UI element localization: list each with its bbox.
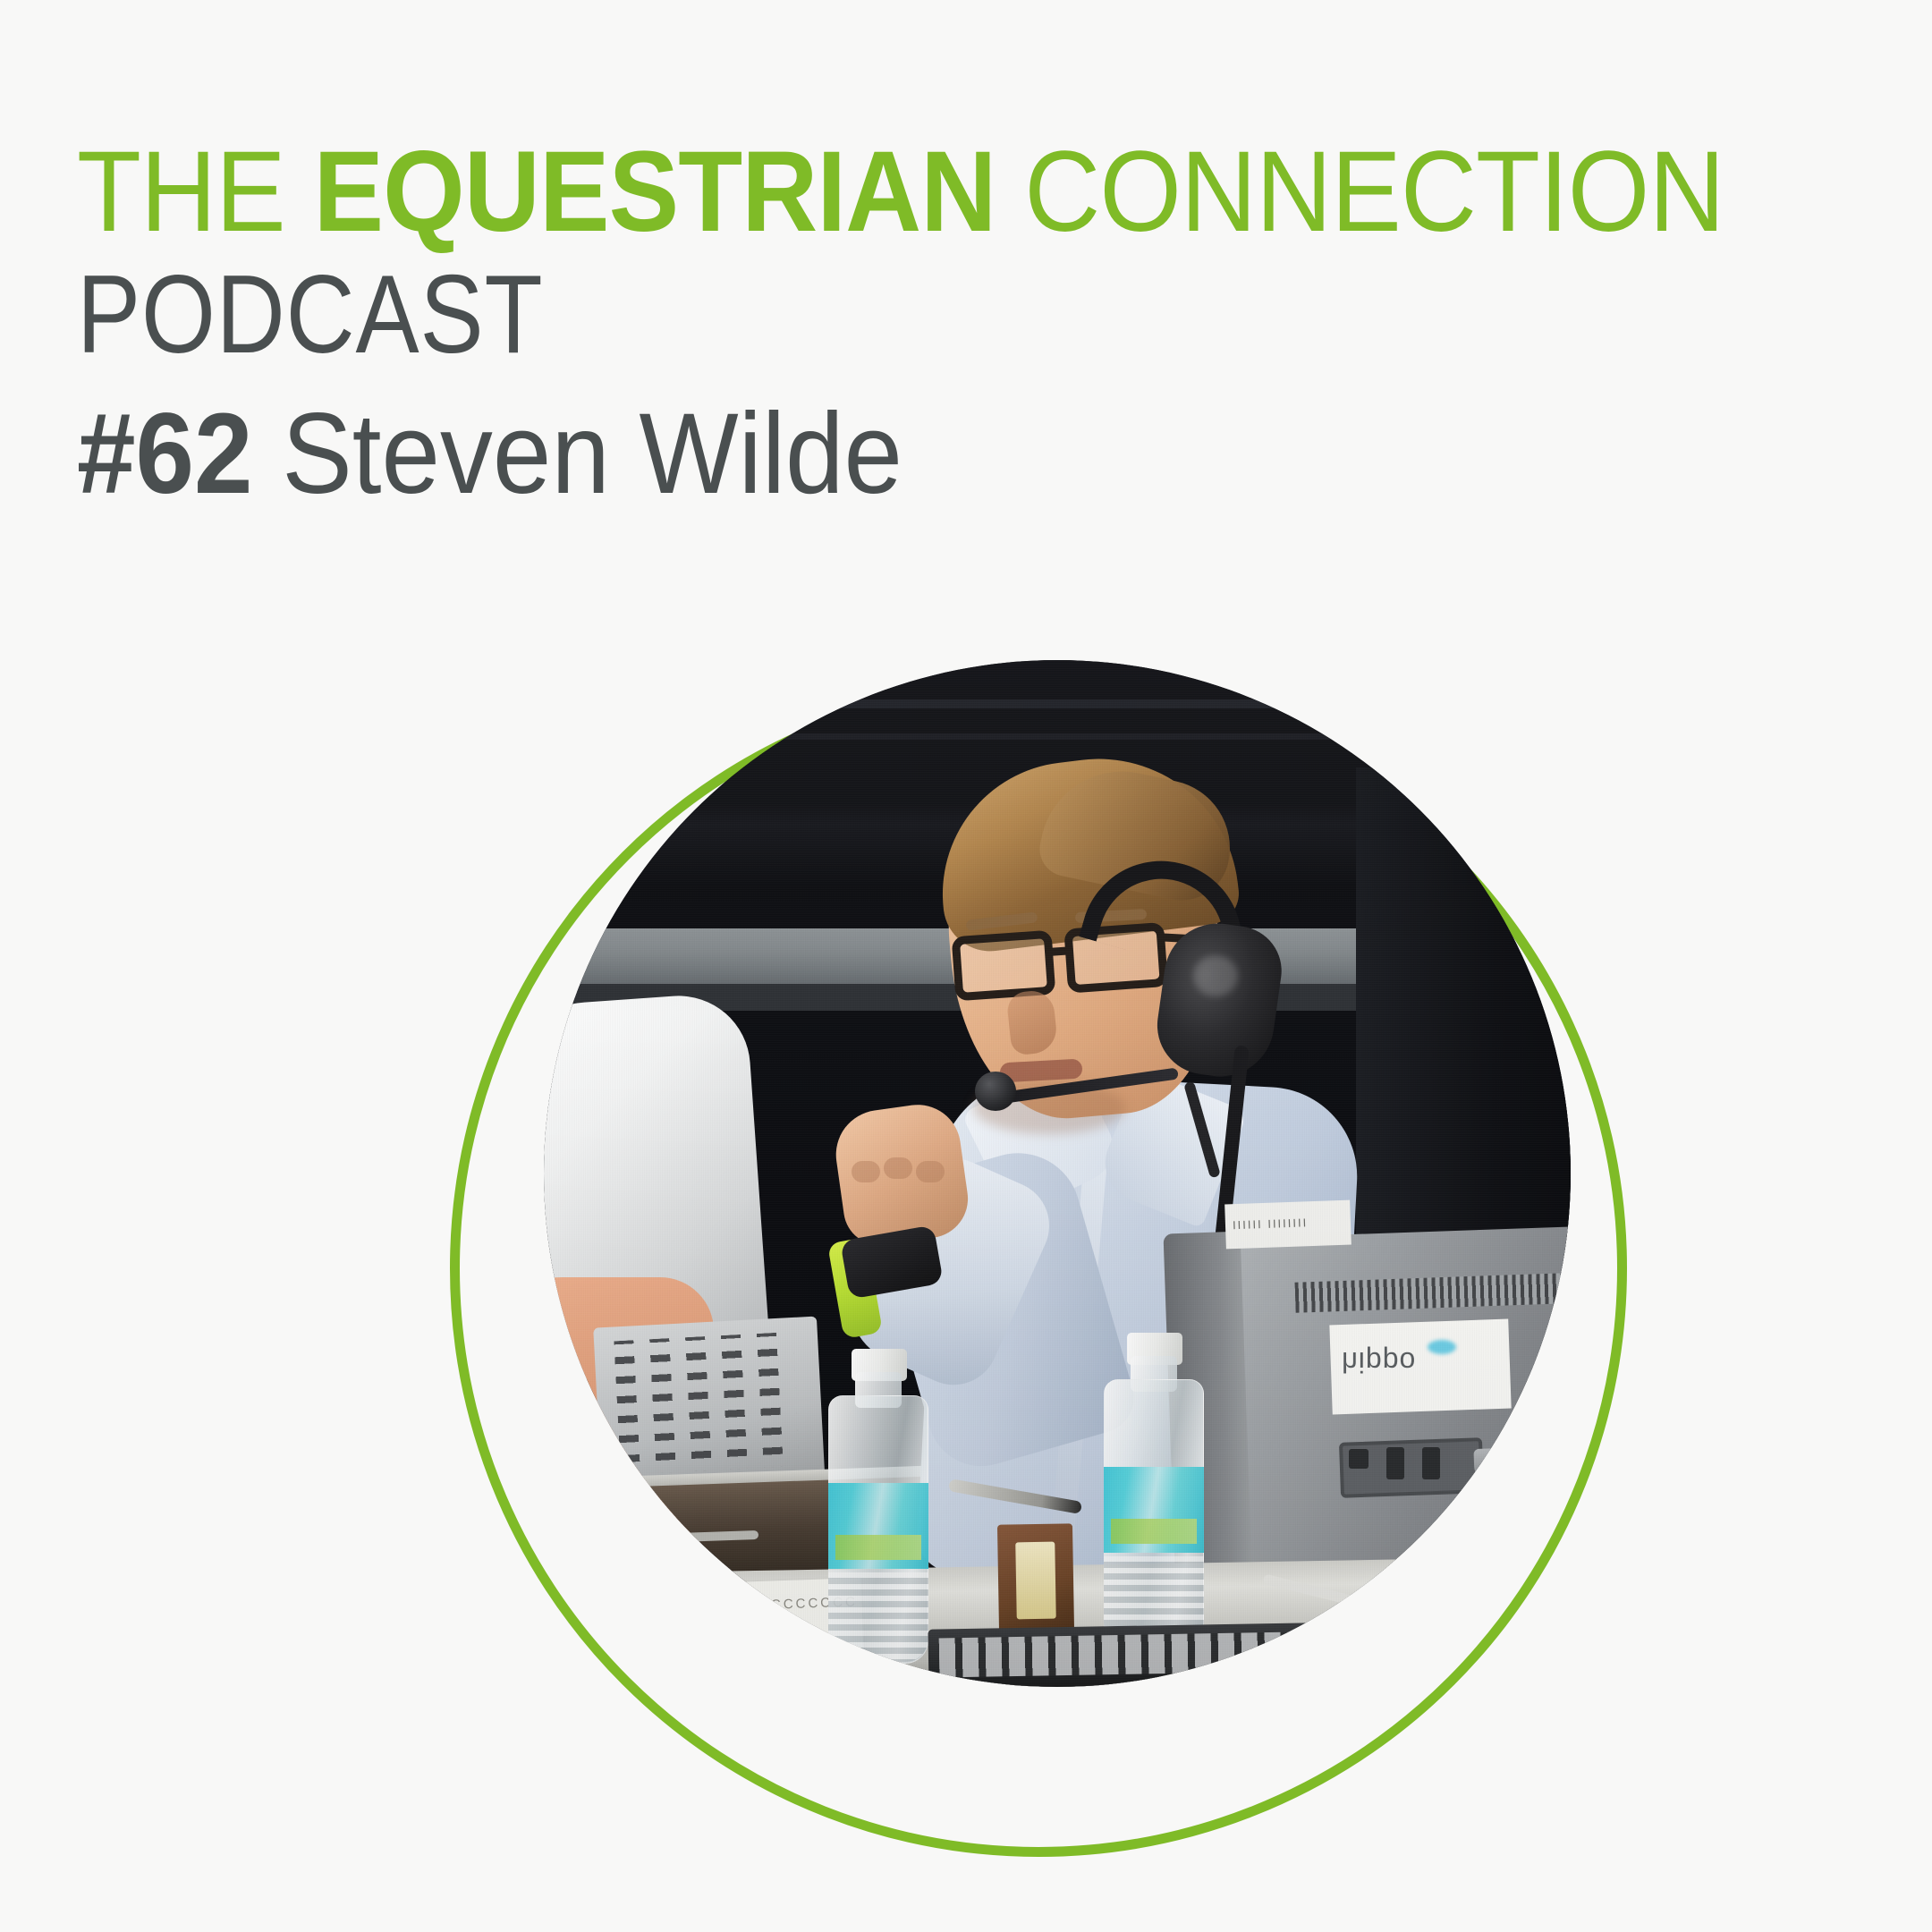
keyboard-keys — [939, 1632, 1298, 1678]
bottle-label-accent — [835, 1535, 921, 1560]
podcast-subtitle: PODCAST — [77, 258, 1615, 371]
guest-photo: IIIIII IIIIIIII hippo CCCCCC CCCCCCCC — [544, 660, 1571, 1687]
title-block: THE EQUESTRIAN CONNECTION PODCAST #62 St… — [77, 134, 1866, 514]
title-word-the: THE — [77, 128, 314, 256]
monitor-scart-port — [1473, 1445, 1571, 1479]
knuckle — [884, 1157, 912, 1179]
monitor-port — [1386, 1447, 1404, 1479]
wooden-nameplate-insert — [1015, 1542, 1055, 1620]
monitor-port — [1349, 1449, 1368, 1469]
monitor-rca-jacks — [1476, 1491, 1571, 1520]
podcast-cover-art: THE EQUESTRIAN CONNECTION PODCAST #62 St… — [0, 0, 1932, 1932]
bottle-label-accent — [1111, 1519, 1197, 1544]
microphone-icon — [975, 1072, 1016, 1111]
episode-heading: #62 Steven Wilde — [77, 394, 1723, 514]
knuckle — [916, 1161, 945, 1182]
bottle-ribs — [828, 1572, 928, 1662]
episode-guest-name: Steven Wilde — [252, 390, 902, 518]
title-word-connection: CONNECTION — [996, 128, 1724, 256]
episode-number: #62 — [77, 390, 252, 518]
photo-scene: IIIIII IIIIIIII hippo CCCCCC CCCCCCCC — [544, 660, 1571, 1687]
headset-earcup-highlight — [1193, 955, 1238, 996]
glasses-lens-left — [952, 930, 1056, 1002]
knuckle — [852, 1161, 880, 1182]
title-word-equestrian: EQUESTRIAN — [314, 128, 996, 256]
podcast-title: THE EQUESTRIAN CONNECTION — [77, 134, 1723, 251]
monitor-port — [1422, 1447, 1440, 1479]
monitor-hippo-text: hippo — [1342, 1345, 1503, 1378]
